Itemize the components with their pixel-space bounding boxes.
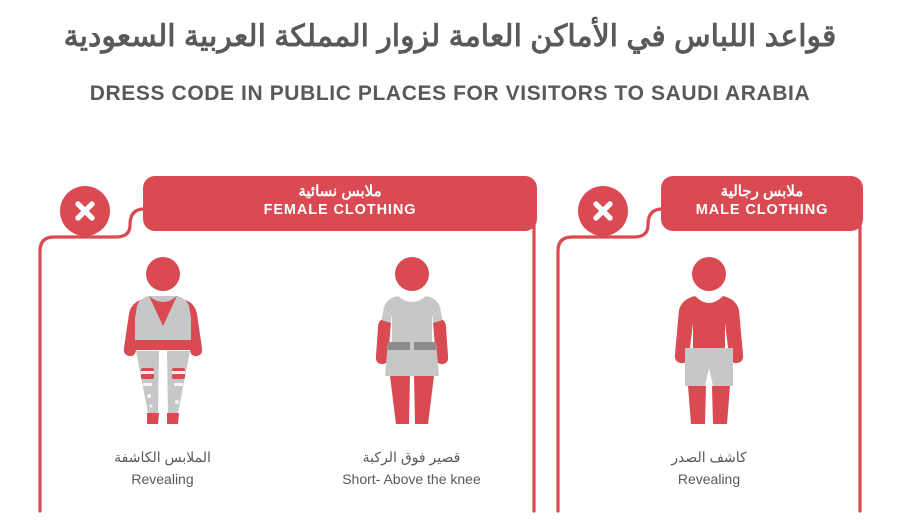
page-header: قواعد اللباس في الأماكن العامة لزوار الم…: [0, 18, 900, 106]
cross-circle-icon-female: [60, 186, 110, 236]
banner-female-clothing: ملابس نسائية FEMALE CLOTHING: [143, 176, 537, 231]
head: [395, 257, 429, 291]
banner-label-arabic: ملابس نسائية: [143, 183, 537, 201]
caption-short-above-knee: قصير فوق الركبة Short- Above the knee: [342, 448, 481, 490]
figure-item-revealing-male: كاشف الصدر Revealing: [594, 251, 824, 490]
page-title-arabic: قواعد اللباس في الأماكن العامة لزوار الم…: [0, 18, 900, 56]
caption-english: Short- Above the knee: [342, 469, 481, 490]
banner-label-english: MALE CLOTHING: [661, 201, 863, 221]
figure-list-female: الملابس الكاشفة Revealing: [38, 251, 536, 490]
head: [146, 257, 180, 291]
caption-english: Revealing: [114, 469, 211, 490]
banner-male-clothing: ملابس رجالية MALE CLOTHING: [661, 176, 863, 231]
head: [692, 257, 726, 291]
caption-revealing-female: الملابس الكاشفة Revealing: [114, 448, 211, 490]
cross-icon: [589, 197, 617, 225]
female-short-skirt-figure: [360, 251, 464, 426]
caption-arabic: قصير فوق الركبة: [342, 448, 481, 467]
male-bare-chest-figure: [657, 251, 761, 426]
banner-label-english: FEMALE CLOTHING: [143, 201, 537, 221]
figure-item-short-above-knee: قصير فوق الركبة Short- Above the knee: [297, 251, 527, 490]
card-female-clothing: ملابس نسائية FEMALE CLOTHING: [38, 193, 536, 513]
cross-circle-icon-male: [578, 186, 628, 236]
card-male-clothing: ملابس رجالية MALE CLOTHING: [556, 193, 862, 513]
infographic-page: قواعد اللباس في الأماكن العامة لزوار الم…: [0, 0, 900, 530]
caption-revealing-male: كاشف الصدر Revealing: [671, 448, 746, 490]
caption-arabic: الملابس الكاشفة: [114, 448, 211, 467]
cross-icon: [71, 197, 99, 225]
banner-label-arabic: ملابس رجالية: [661, 183, 863, 201]
female-ripped-jeans-figure: [111, 251, 215, 426]
figure-item-revealing-female: الملابس الكاشفة Revealing: [48, 251, 278, 490]
page-title-english: DRESS CODE IN PUBLIC PLACES FOR VISITORS…: [0, 82, 900, 106]
figure-list-male: كاشف الصدر Revealing: [556, 251, 862, 490]
caption-english: Revealing: [671, 469, 746, 490]
caption-arabic: كاشف الصدر: [671, 448, 746, 467]
